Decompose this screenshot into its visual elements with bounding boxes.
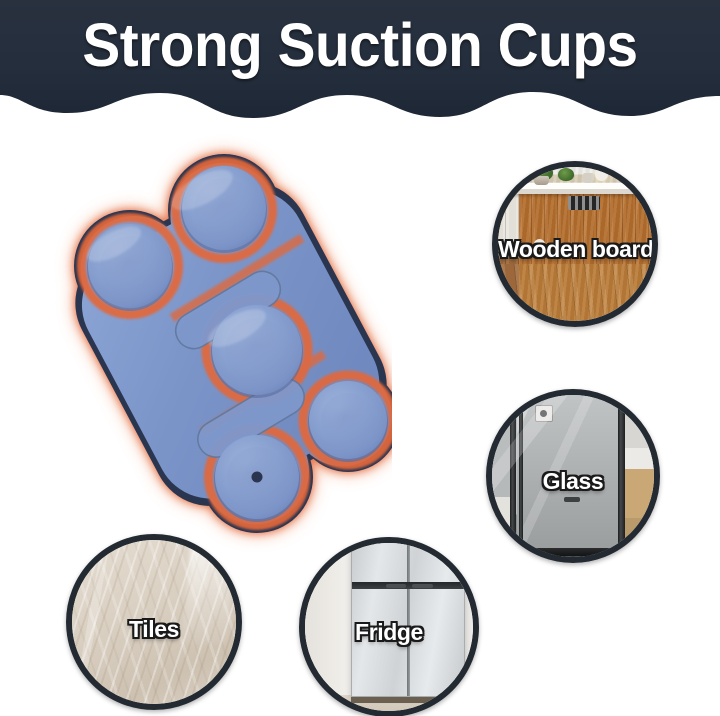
feature-label-tiles: Tiles [72, 616, 236, 642]
feature-label-wooden-board: Wooden board [498, 236, 652, 262]
tile-reflection [191, 534, 207, 608]
wall-rack [568, 196, 600, 210]
page-title: Strong Suction Cups [25, 9, 695, 81]
feature-circle-wooden-board[interactable]: Wooden board [492, 161, 658, 327]
product-image [52, 132, 392, 552]
shelf-pot [534, 176, 549, 185]
fridge-handle-upper-left [386, 584, 406, 588]
infographic-page: Strong Suction Cups [0, 0, 720, 716]
suction-cup-bottom-left [214, 435, 300, 522]
shelf-pot [583, 173, 594, 183]
shelf-plant-icon [558, 168, 574, 181]
suction-cup-mount-illustration [52, 132, 392, 552]
feature-circle-fridge[interactable]: Fridge [299, 537, 479, 716]
fridge-handle-upper-right [412, 584, 432, 588]
suction-cup-bottom-right [308, 381, 388, 462]
fridge-base-shadow [351, 697, 463, 703]
feature-label-glass: Glass [492, 468, 654, 494]
header-banner: Strong Suction Cups [0, 0, 720, 130]
valve-dot [252, 472, 263, 483]
feature-circle-glass[interactable]: Glass [486, 389, 660, 563]
cabinet-handle [302, 562, 313, 568]
wood-shelf [492, 183, 658, 194]
shelf-lamp-icon [595, 168, 608, 181]
wood-floor-planks [492, 264, 658, 327]
feature-label-fridge: Fridge [305, 619, 473, 645]
fridge-door-gap-horizontal [352, 582, 464, 589]
kitchen-cabinet [299, 537, 355, 695]
feature-circle-tiles[interactable]: Tiles [66, 534, 242, 710]
